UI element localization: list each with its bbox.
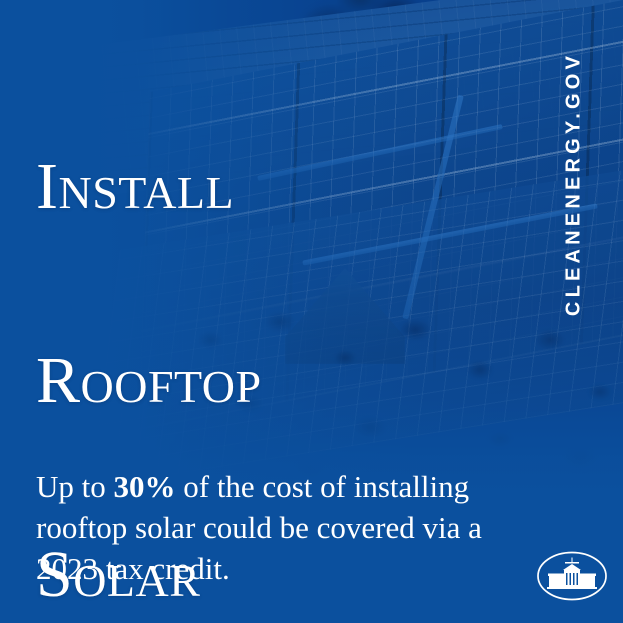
body-copy: Up to 30% of the cost of installing roof…: [36, 466, 506, 590]
headline-line-1: Install: [36, 155, 262, 220]
white-house-building: [547, 558, 597, 590]
body-prefix: Up to: [36, 469, 114, 504]
solar-promo-poster: Install Rooftop Solar CLEANENERGY.GOV Up…: [0, 0, 623, 623]
poster-content: Install Rooftop Solar CLEANENERGY.GOV Up…: [0, 0, 623, 623]
vertical-website-url[interactable]: CLEANENERGY.GOV: [563, 52, 586, 316]
white-house-seal-logo: [536, 550, 608, 602]
body-highlight-percent: 30%: [114, 469, 176, 504]
headline-line-2: Rooftop: [36, 349, 262, 414]
